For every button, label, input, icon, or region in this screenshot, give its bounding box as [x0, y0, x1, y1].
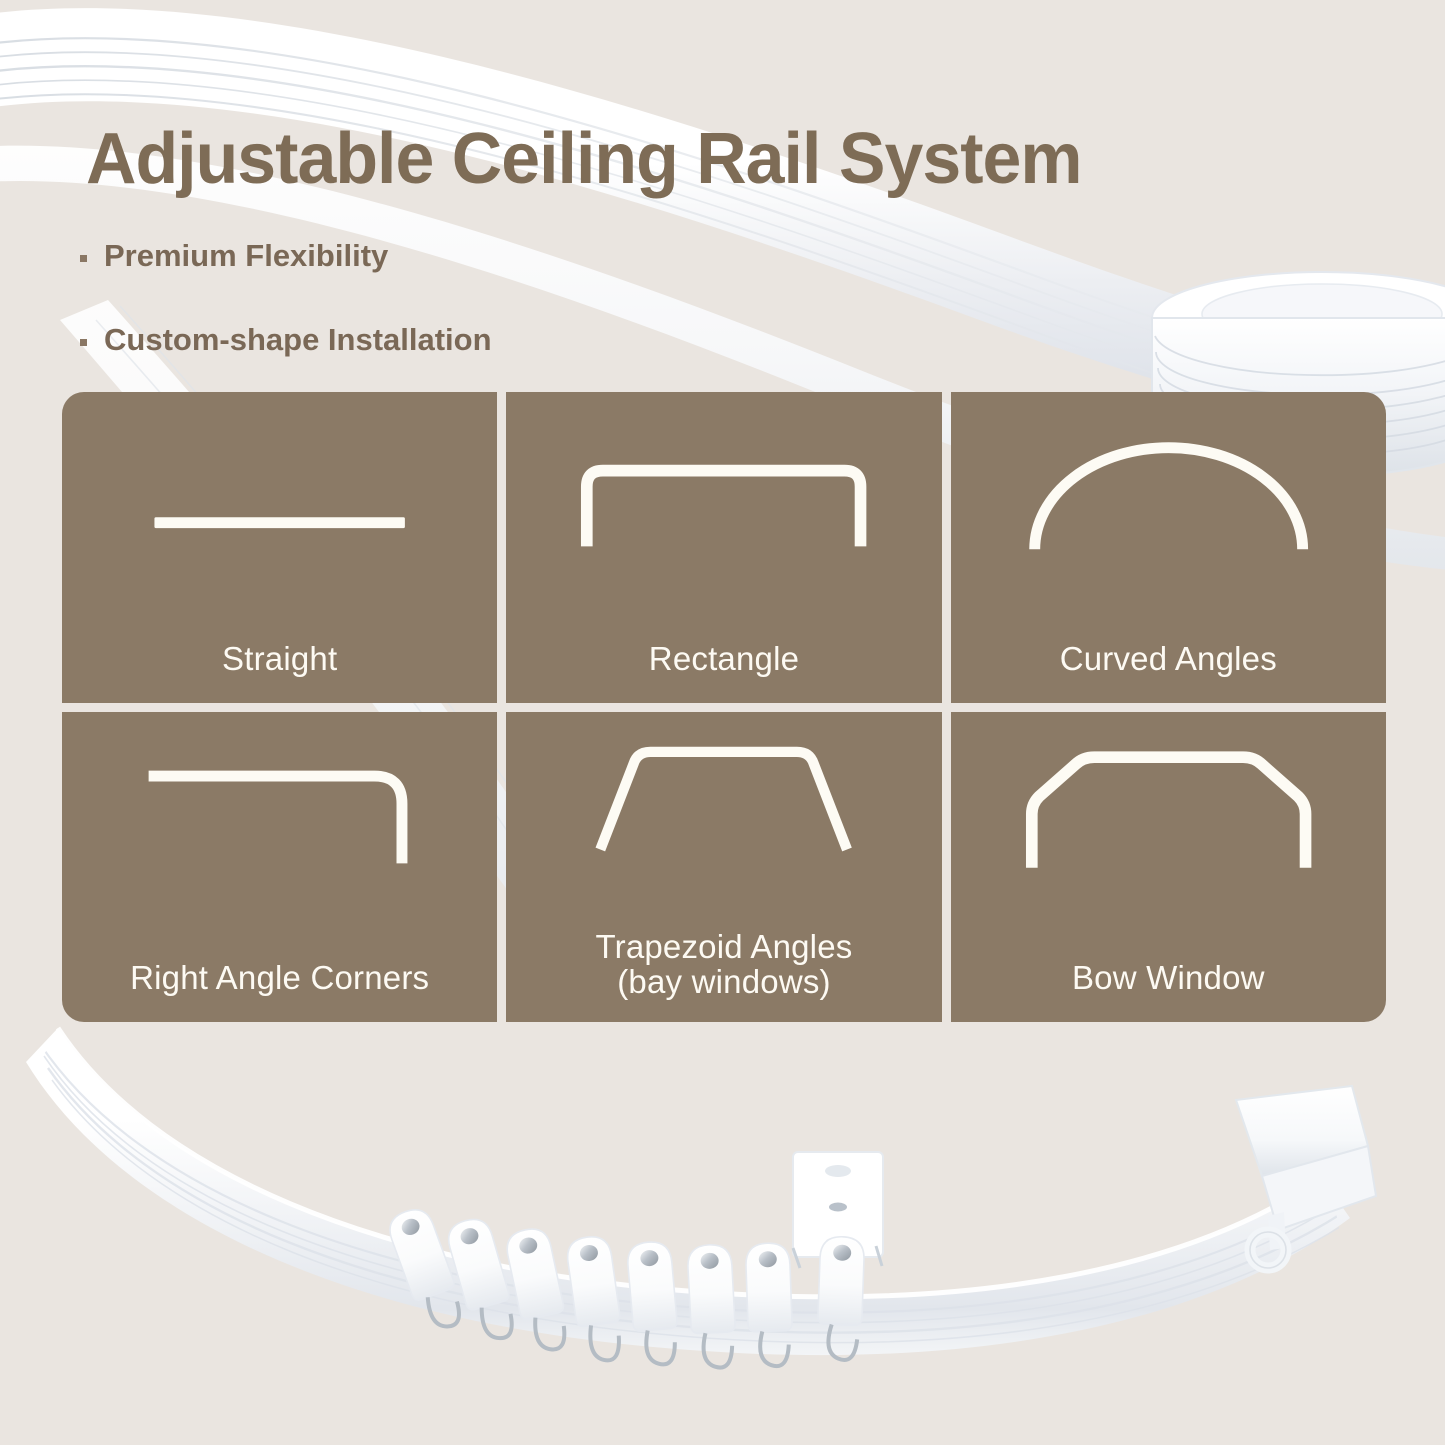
glider-carriers [384, 1204, 864, 1369]
shape-card-label: Trapezoid Angles (bay windows) [506, 930, 941, 1000]
feature-bullet-list: Premium Flexibility Custom-shape Install… [80, 228, 492, 368]
shape-card-rectangle[interactable]: Rectangle [506, 392, 941, 703]
end-cap-with-ring [1236, 1086, 1376, 1268]
square-bullet-icon [80, 255, 87, 262]
shape-card-label: Curved Angles [951, 642, 1386, 677]
ceiling-mount-bracket [793, 1152, 883, 1268]
straight-line-shape [62, 392, 497, 603]
shape-card-right-angle-corners[interactable]: Right Angle Corners [62, 712, 497, 1023]
shape-card-bow-window[interactable]: Bow Window [951, 712, 1386, 1023]
page-title: Adjustable Ceiling Rail System [86, 118, 1081, 200]
infographic-canvas: Adjustable Ceiling Rail System Premium F… [0, 0, 1445, 1445]
list-item: Premium Flexibility [80, 228, 492, 284]
trapezoid-shape [506, 712, 941, 898]
bow-window-shape [951, 712, 1386, 923]
bullet-label: Premium Flexibility [104, 238, 388, 274]
right-angle-shape [62, 712, 497, 923]
shape-card-straight[interactable]: Straight [62, 392, 497, 703]
arc-shape [951, 392, 1386, 603]
list-item: Custom-shape Installation [80, 312, 492, 368]
shape-card-curved-angles[interactable]: Curved Angles [951, 392, 1386, 703]
shape-card-label: Straight [62, 642, 497, 677]
rectangle-bracket-shape [506, 392, 941, 603]
bullet-label: Custom-shape Installation [104, 322, 492, 358]
shape-card-trapezoid-angles[interactable]: Trapezoid Angles (bay windows) [506, 712, 941, 1023]
square-bullet-icon [80, 339, 87, 346]
shape-card-label: Rectangle [506, 642, 941, 677]
shape-options-grid: Straight Rectangle Curved Angles [62, 392, 1386, 1022]
shape-card-label: Bow Window [951, 961, 1386, 996]
shape-card-label: Right Angle Corners [62, 961, 497, 996]
